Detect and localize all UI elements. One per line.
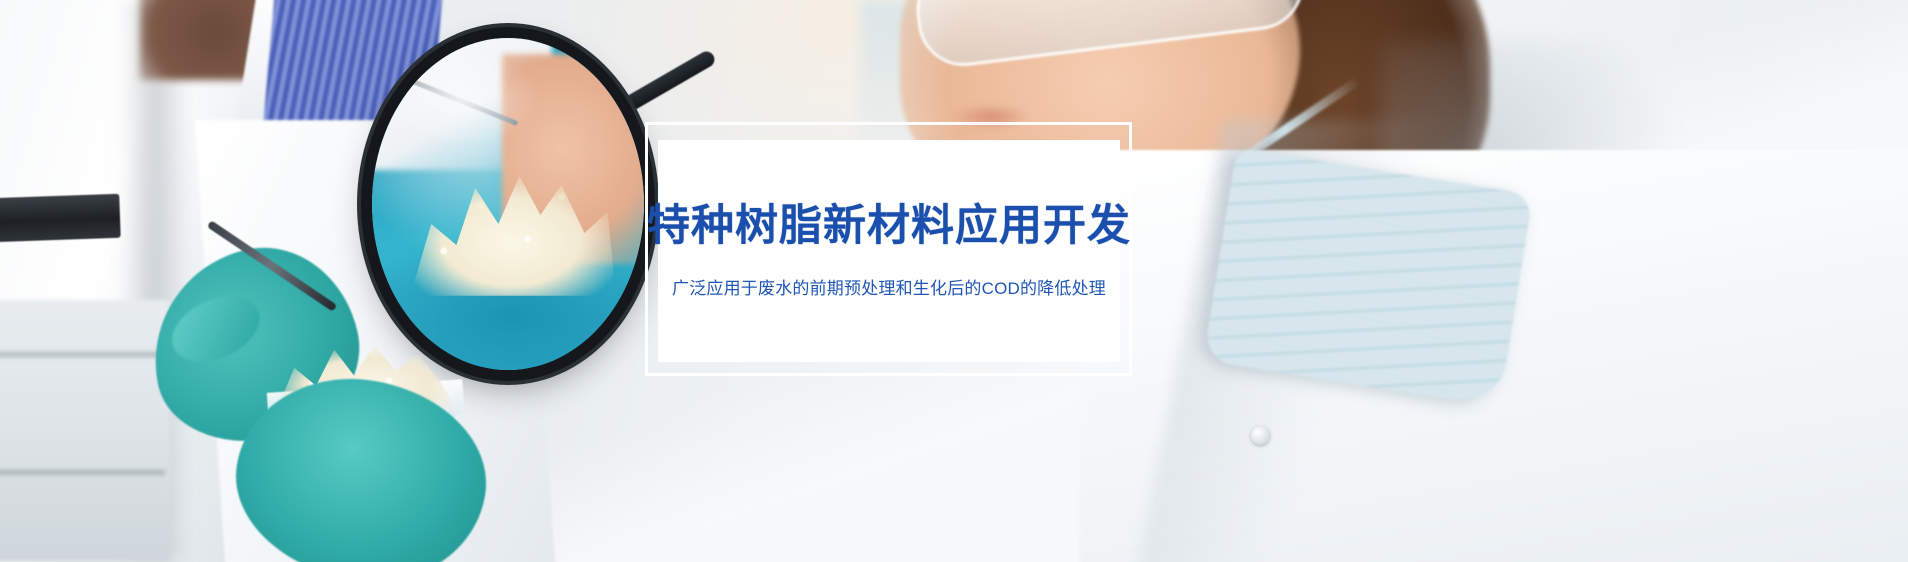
lab-shelf-edge-upper	[0, 352, 165, 357]
magnifying-glass	[372, 38, 644, 370]
lab-shelf	[0, 300, 170, 562]
banner-title: 特种树脂新材料应用开发	[647, 202, 1131, 251]
lab-shelf-edge-lower	[0, 470, 165, 475]
lab-coat-button	[1251, 426, 1270, 445]
product-banner: 特种树脂新材料应用开发 广泛应用于废水的前期预处理和生化后的COD的降低处理	[0, 0, 1908, 562]
banner-subtitle: 广泛应用于废水的前期预处理和生化后的COD的降低处理	[672, 278, 1106, 300]
magnifier-lens-glare	[390, 50, 540, 146]
banner-text-panel: 特种树脂新材料应用开发 广泛应用于废水的前期预处理和生化后的COD的降低处理	[658, 140, 1120, 362]
lab-instrument-bar	[0, 194, 121, 243]
